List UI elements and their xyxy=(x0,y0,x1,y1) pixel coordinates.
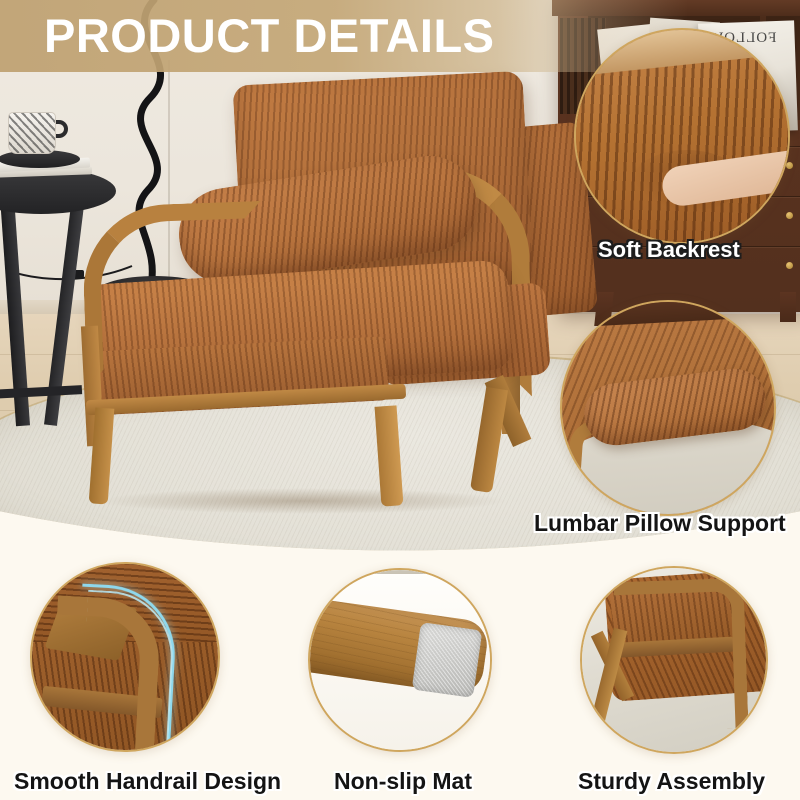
callout-label-smooth-handrail-design: Smooth Handrail Design xyxy=(14,768,281,795)
accent-chair xyxy=(78,76,578,506)
felt-pad xyxy=(412,622,483,698)
callout-image-lumbar-pillow xyxy=(560,300,776,516)
page-title: PRODUCT DETAILS xyxy=(44,6,495,66)
callout-image-handrail xyxy=(30,562,220,752)
callout-label-sturdy-assembly: Sturdy Assembly xyxy=(578,768,765,795)
callout-label-soft-backrest: Soft Backrest xyxy=(598,237,740,263)
chair-rear-leg xyxy=(470,387,508,493)
chair-frame-closeup xyxy=(613,578,748,732)
callout-image-non-slip-mat xyxy=(308,568,492,752)
chair-left-armrest xyxy=(81,201,267,387)
callout-image-sturdy-assembly xyxy=(580,566,768,754)
drawer-knob xyxy=(786,262,793,269)
callout-label-non-slip-mat: Non-slip Mat xyxy=(334,768,472,795)
callout-image-soft-backrest xyxy=(574,28,790,244)
product-details-page: FOLLOW xyxy=(0,0,800,800)
callout-label-lumbar-pillow-support: Lumbar Pillow Support xyxy=(534,510,786,537)
cabinet-leg xyxy=(780,292,796,322)
patterned-mug xyxy=(8,112,56,154)
chair-shadow xyxy=(98,488,508,514)
